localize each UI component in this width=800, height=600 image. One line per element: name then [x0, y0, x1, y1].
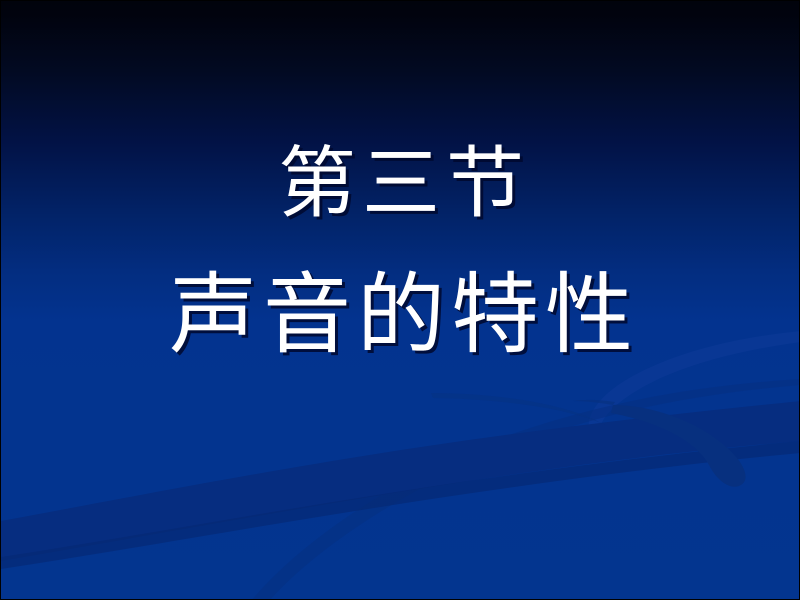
title-line-1: 第三节	[1, 145, 800, 223]
bottom-edge-band	[1, 441, 800, 569]
title-line-2: 声音的特性	[1, 273, 800, 361]
hook-tail	[573, 400, 615, 405]
mid-faint-arc	[431, 393, 605, 425]
hook-curve	[611, 405, 746, 487]
slide-canvas: 第三节 声音的特性	[0, 0, 800, 600]
lower-sweep-ribbon	[1, 401, 800, 561]
faint-long-curve	[251, 379, 800, 600]
